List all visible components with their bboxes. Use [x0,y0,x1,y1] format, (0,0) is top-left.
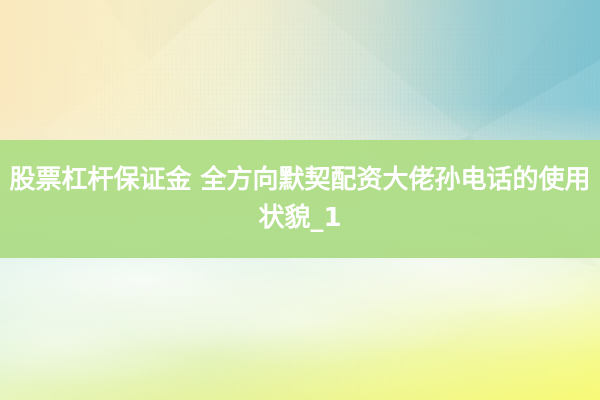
page-title: 股票杠杆保证金 全方向默契配资大佬孙电话的使用 状貌_1 [6,161,594,237]
title-banner: 股票杠杆保证金 全方向默契配资大佬孙电话的使用 状貌_1 [0,140,600,258]
banner-image: 股票杠杆保证金 全方向默契配资大佬孙电话的使用 状貌_1 [0,0,600,400]
